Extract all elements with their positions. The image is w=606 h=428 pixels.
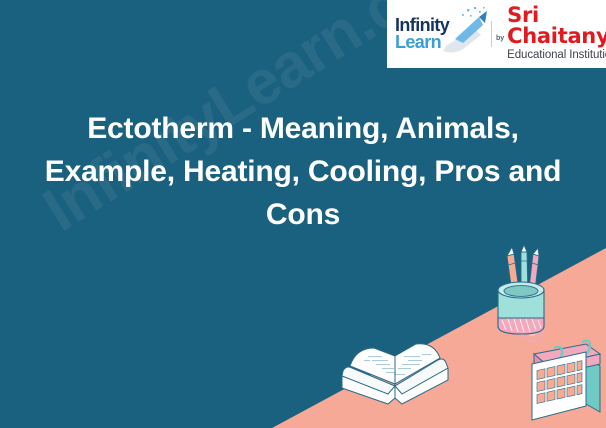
- logo-connector-by: by: [496, 35, 504, 42]
- infinity-learn-wordmark: Infinity Learn: [395, 17, 449, 50]
- article-banner: InfinityLearn.com: [0, 0, 606, 428]
- desk-calendar-icon: [524, 326, 606, 428]
- pencil-cup-icon: [486, 242, 556, 338]
- open-book-icon: [338, 332, 450, 426]
- sri-chaitanya-subtitle: Educational Institutions: [507, 49, 606, 63]
- logo-line-learn: Learn: [395, 34, 449, 51]
- brand-logo-plate[interactable]: Infinity Learn by Sri Chaitanya Educatio…: [387, 0, 606, 68]
- sri-chaitanya-logo[interactable]: Sri Chaitanya Educational Institutions: [507, 5, 606, 63]
- sri-chaitanya-name: Sri Chaitanya: [507, 5, 606, 47]
- logo-divider: [491, 21, 492, 47]
- infinity-learn-logo[interactable]: Infinity Learn: [393, 3, 489, 65]
- page-title: Ectotherm - Meaning, Animals, Example, H…: [28, 108, 578, 237]
